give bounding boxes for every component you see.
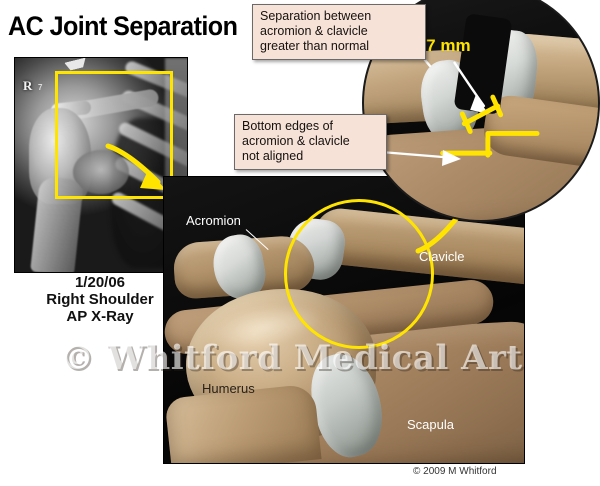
copyright-notice: © 2009 M Whitford bbox=[413, 466, 497, 477]
xray-side-marker: R bbox=[23, 78, 32, 94]
label-scapula: Scapula bbox=[407, 417, 454, 432]
ac-joint-highlight-circle bbox=[284, 199, 434, 349]
callout-alignment: Bottom edges of acromion & clavicle not … bbox=[234, 114, 387, 170]
page-title: AC Joint Separation bbox=[8, 11, 237, 42]
callout-alignment-line1: Bottom edges of bbox=[242, 119, 379, 134]
callout-separation: Separation between acromion & clavicle g… bbox=[252, 4, 426, 60]
illustration-canvas: AC Joint Separation R 7 1/20/06 Right Sh… bbox=[0, 0, 600, 486]
xray-caption: 1/20/06 Right Shoulder AP X-Ray bbox=[14, 274, 186, 325]
callout-alignment-line2: acromion & clavicle bbox=[242, 134, 379, 149]
callout-separation-line2: acromion & clavicle bbox=[260, 24, 418, 39]
label-acromion: Acromion bbox=[186, 213, 241, 228]
xray-caption-view: AP X-Ray bbox=[14, 308, 186, 325]
xray-region-of-interest-box bbox=[55, 71, 173, 199]
label-clavicle: Clavicle bbox=[419, 249, 465, 264]
callout-separation-line1: Separation between bbox=[260, 9, 418, 24]
xray-caption-region: Right Shoulder bbox=[14, 291, 186, 308]
label-humerus: Humerus bbox=[202, 381, 255, 396]
xray-number-marker: 7 bbox=[38, 83, 42, 92]
callout-alignment-line3: not aligned bbox=[242, 149, 379, 164]
xray-caption-date: 1/20/06 bbox=[14, 274, 186, 291]
xray-image-panel: R 7 bbox=[14, 57, 188, 273]
callout-separation-line3: greater than normal bbox=[260, 39, 418, 54]
